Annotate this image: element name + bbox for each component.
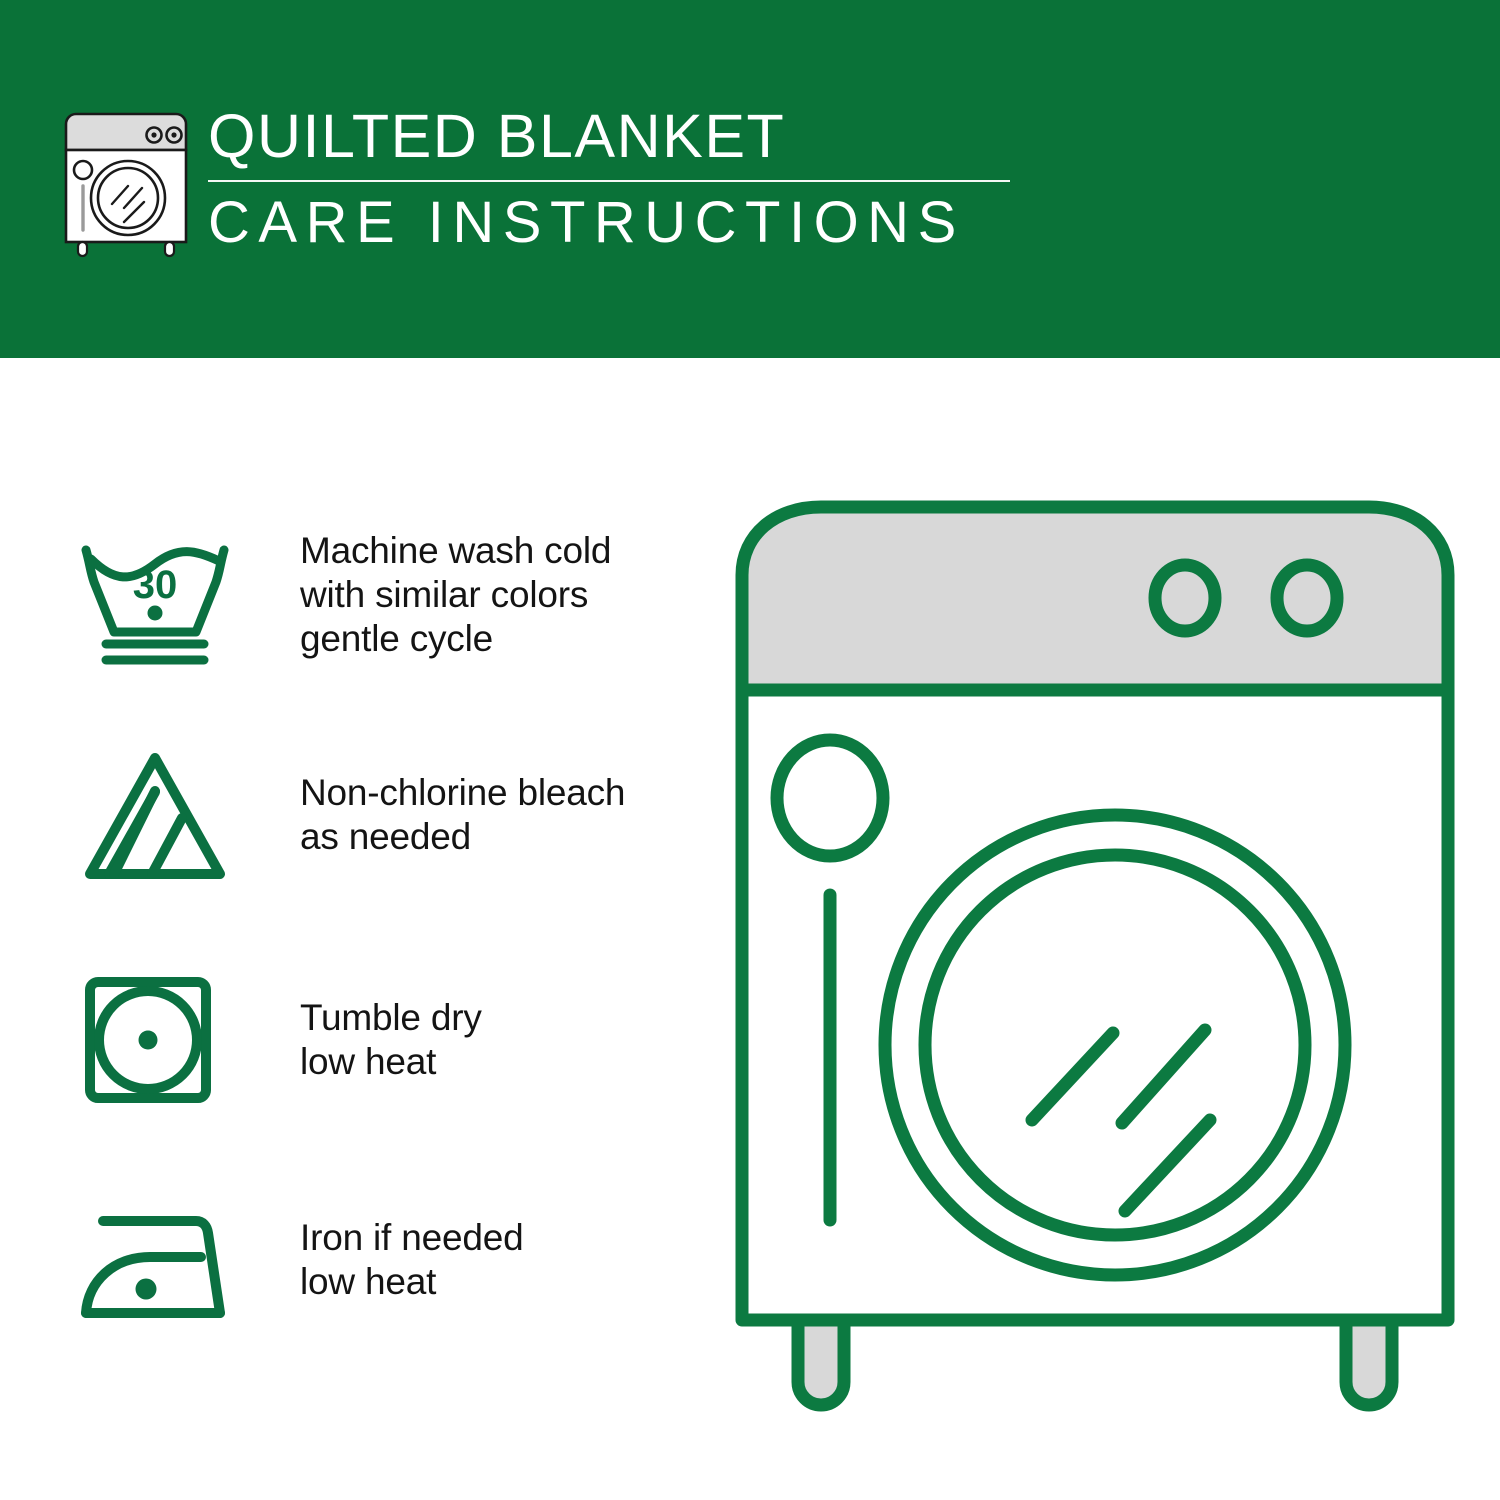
care-row-machine-wash: 30 Machine wash cold with similar colors… — [70, 520, 611, 670]
header-title-block: QUILTED BLANKET CARE INSTRUCTIONS — [208, 100, 1010, 256]
wash-tub-30-gentle-icon: 30 — [70, 520, 240, 670]
front-load-washing-machine-illustration — [735, 495, 1455, 1425]
tumble-dry-low-heat-icon — [70, 965, 240, 1115]
care-label-iron: Iron if needed low heat — [300, 1216, 523, 1304]
wash-temperature-value: 30 — [133, 563, 178, 607]
care-row-iron: Iron if needed low heat — [70, 1185, 523, 1335]
washing-machine-icon — [62, 100, 190, 260]
care-label-tumble-dry: Tumble dry low heat — [300, 996, 482, 1084]
iron-low-heat-icon — [70, 1185, 240, 1335]
page-title: QUILTED BLANKET — [208, 102, 1010, 170]
care-label-bleach: Non-chlorine bleach as needed — [300, 771, 625, 859]
page-subtitle: CARE INSTRUCTIONS — [208, 190, 1010, 256]
care-label-machine-wash: Machine wash cold with similar colors ge… — [300, 529, 611, 661]
header-content: QUILTED BLANKET CARE INSTRUCTIONS — [62, 100, 1010, 260]
header-banner: QUILTED BLANKET CARE INSTRUCTIONS — [0, 0, 1500, 358]
non-chlorine-bleach-triangle-icon — [70, 740, 240, 890]
care-row-bleach: Non-chlorine bleach as needed — [70, 740, 625, 890]
care-row-tumble-dry: Tumble dry low heat — [70, 965, 482, 1115]
title-divider — [208, 180, 1010, 182]
